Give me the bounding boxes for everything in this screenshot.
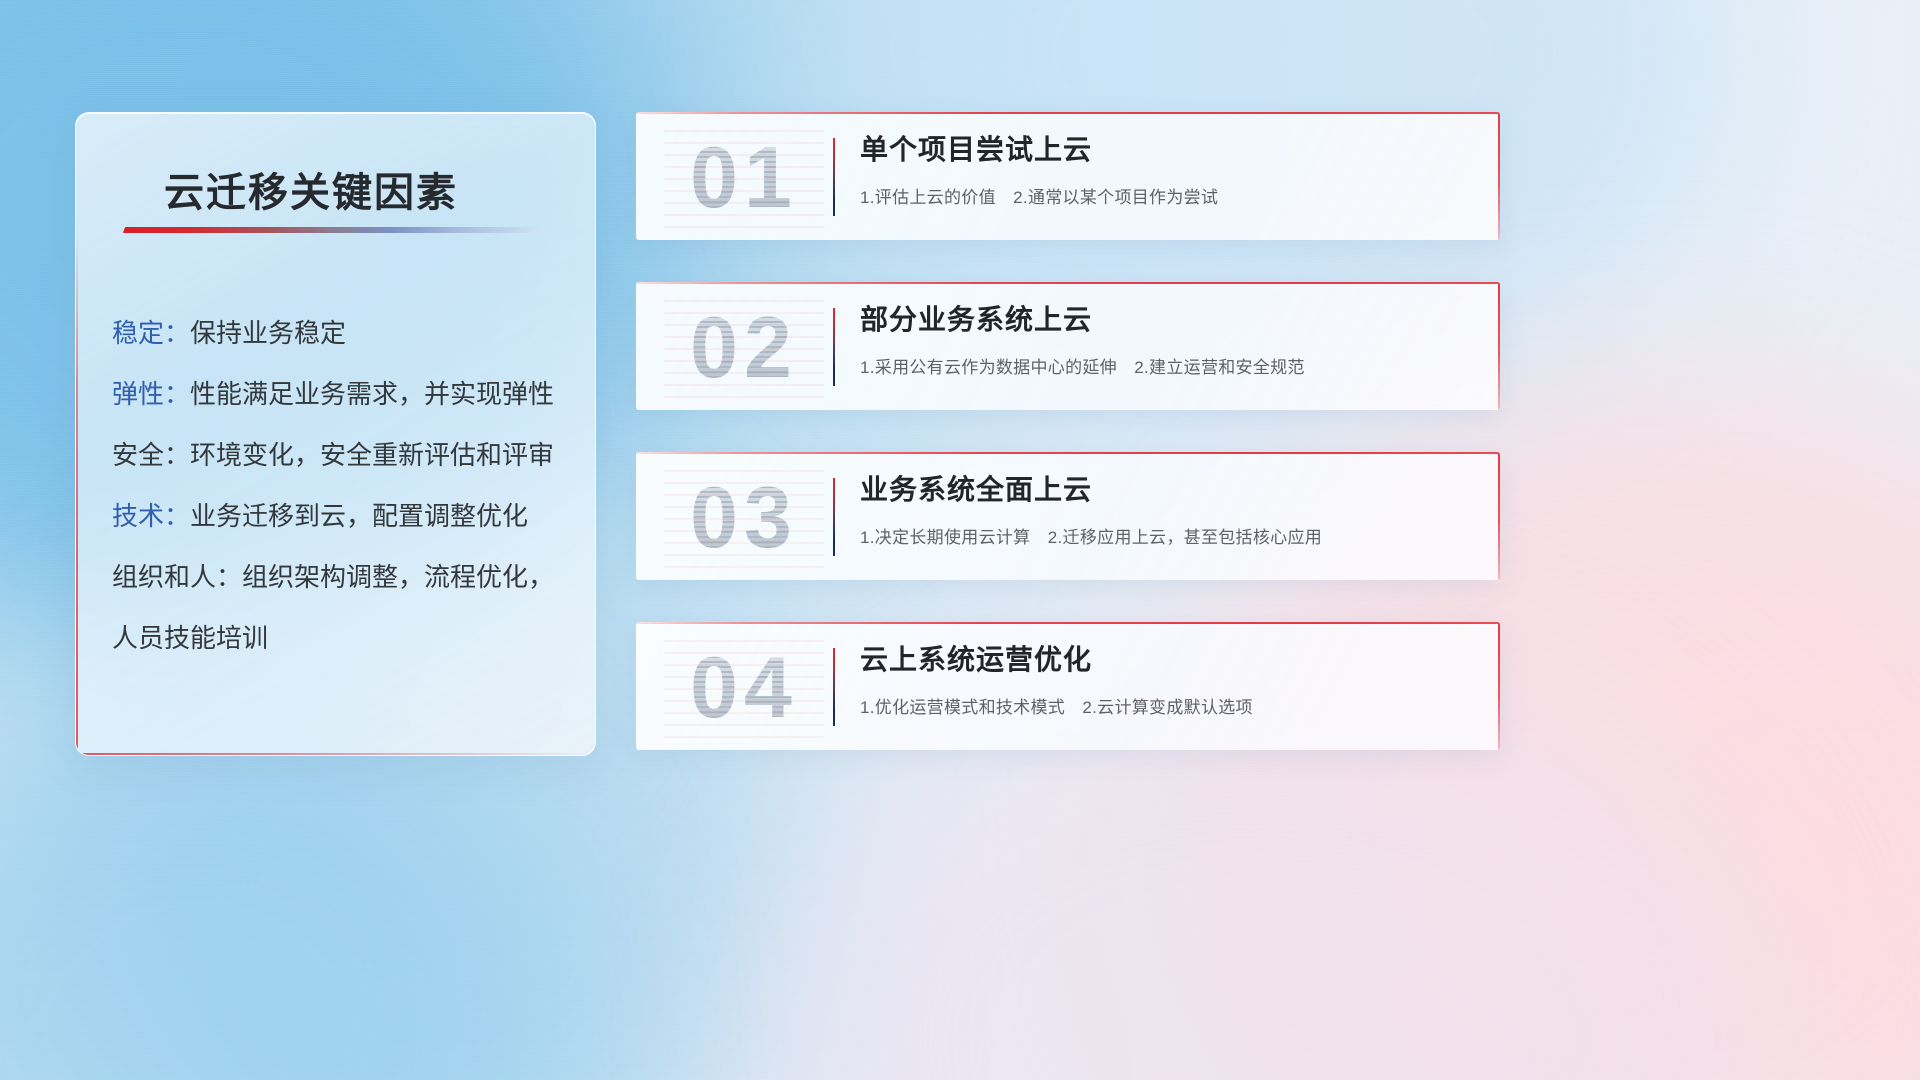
step-content: 单个项目尝试上云 1.评估上云的价值 2.通常以某个项目作为尝试 [860, 130, 1478, 208]
list-item: 稳定：保持业务稳定 [112, 303, 569, 364]
factor-text: 业务迁移到云，配置调整优化 [190, 501, 528, 531]
key-factors-list: 稳定：保持业务稳定 弹性：性能满足业务需求，并实现弹性 安全：环境变化，安全重新… [112, 303, 569, 669]
step-description: 1.优化运营模式和技术模式 2.云计算变成默认选项 [860, 693, 1478, 718]
step-number: 02 [664, 298, 824, 398]
step-content: 云上系统运营优化 1.优化运营模式和技术模式 2.云计算变成默认选项 [860, 640, 1478, 718]
list-item: 组织和人：组织架构调整，流程优化， [112, 547, 569, 608]
step-divider [833, 308, 835, 386]
step-title: 云上系统运营优化 [860, 640, 1478, 680]
factor-label: 技术： [112, 501, 190, 531]
step-divider [833, 138, 835, 216]
title-underline-accent [123, 227, 545, 233]
slide-canvas: 云迁移关键因素 稳定：保持业务稳定 弹性：性能满足业务需求，并实现弹性 安全：环… [0, 0, 1920, 1080]
step-content: 业务系统全面上云 1.决定长期使用云计算 2.迁移应用上云，甚至包括核心应用 [860, 470, 1478, 548]
step-title: 部分业务系统上云 [860, 300, 1478, 340]
step-card-01[interactable]: 01 单个项目尝试上云 1.评估上云的价值 2.通常以某个项目作为尝试 [636, 112, 1500, 240]
migration-steps-list: 01 单个项目尝试上云 1.评估上云的价值 2.通常以某个项目作为尝试 02 部… [636, 112, 1500, 792]
step-number: 01 [664, 128, 824, 228]
factor-label: 组织和人： [112, 562, 242, 592]
list-item: 安全：环境变化，安全重新评估和评审 [112, 425, 569, 486]
step-title: 单个项目尝试上云 [860, 130, 1478, 170]
key-factors-panel: 云迁移关键因素 稳定：保持业务稳定 弹性：性能满足业务需求，并实现弹性 安全：环… [75, 112, 596, 756]
page-title: 云迁移关键因素 [164, 160, 458, 218]
factor-text: 人员技能培训 [112, 623, 268, 653]
step-content: 部分业务系统上云 1.采用公有云作为数据中心的延伸 2.建立运营和安全规范 [860, 300, 1478, 378]
factor-label: 稳定： [112, 318, 190, 348]
step-divider [833, 478, 835, 556]
step-description: 1.采用公有云作为数据中心的延伸 2.建立运营和安全规范 [860, 353, 1478, 378]
step-description: 1.评估上云的价值 2.通常以某个项目作为尝试 [860, 183, 1478, 208]
list-item: 人员技能培训 [112, 608, 569, 669]
list-item: 技术：业务迁移到云，配置调整优化 [112, 486, 569, 547]
step-number: 04 [664, 638, 824, 738]
step-card-03[interactable]: 03 业务系统全面上云 1.决定长期使用云计算 2.迁移应用上云，甚至包括核心应… [636, 452, 1500, 580]
factor-text: 环境变化，安全重新评估和评审 [190, 440, 554, 470]
step-number: 03 [664, 468, 824, 568]
step-title: 业务系统全面上云 [860, 470, 1478, 510]
factor-text: 组织架构调整，流程优化， [242, 562, 554, 592]
list-item: 弹性：性能满足业务需求，并实现弹性 [112, 364, 569, 425]
step-divider [833, 648, 835, 726]
step-description: 1.决定长期使用云计算 2.迁移应用上云，甚至包括核心应用 [860, 523, 1478, 548]
factor-text: 性能满足业务需求，并实现弹性 [190, 379, 554, 409]
step-card-04[interactable]: 04 云上系统运营优化 1.优化运营模式和技术模式 2.云计算变成默认选项 [636, 622, 1500, 750]
factor-text: 保持业务稳定 [190, 318, 346, 348]
step-card-02[interactable]: 02 部分业务系统上云 1.采用公有云作为数据中心的延伸 2.建立运营和安全规范 [636, 282, 1500, 410]
factor-label: 安全： [112, 440, 190, 470]
factor-label: 弹性： [112, 379, 190, 409]
